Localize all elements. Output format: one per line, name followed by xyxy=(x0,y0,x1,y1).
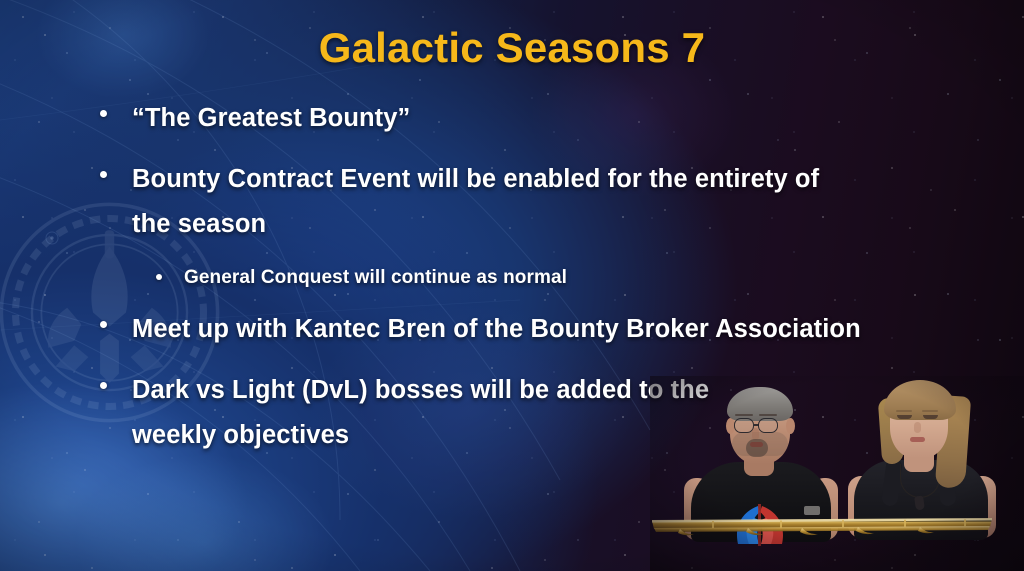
right-presenter-mouth xyxy=(910,437,925,442)
right-presenter-hair-top xyxy=(884,380,956,420)
right-presenter-eye-left xyxy=(897,415,912,419)
slide-title: Galactic Seasons 7 xyxy=(0,24,1024,72)
bullet-item-2: Bounty Contract Event will be enabled fo… xyxy=(100,157,960,247)
bullet-dot-icon xyxy=(100,171,107,178)
bullet-item-3-sub: General Conquest will continue as normal xyxy=(156,263,960,293)
presenter-left-figure xyxy=(686,386,836,536)
bullet-text: “The Greatest Bounty” xyxy=(132,96,410,141)
webcam-overlay xyxy=(650,376,1024,571)
bullet-text: Bounty Contract Event will be enabled fo… xyxy=(132,157,832,247)
right-presenter-nose xyxy=(914,422,921,433)
necklace-pendant-icon xyxy=(914,495,925,510)
bullet-dot-icon xyxy=(100,321,107,328)
bullet-item-4: Meet up with Kantec Bren of the Bounty B… xyxy=(100,307,960,352)
presentation-slide: Galactic Seasons 7 “The Greatest Bounty”… xyxy=(0,0,1024,571)
left-presenter-mouth xyxy=(750,442,763,447)
glasses-bridge-icon xyxy=(754,424,759,426)
bullet-dot-icon xyxy=(100,382,107,389)
right-presenter-eyebrow-left xyxy=(896,410,912,412)
right-presenter-eye-right xyxy=(923,415,938,419)
bullet-dot-icon xyxy=(100,110,107,117)
right-presenter-eyebrow-right xyxy=(922,410,938,412)
presenter-right-figure xyxy=(846,380,996,538)
glasses-lens-left-icon xyxy=(734,418,754,433)
bullet-item-1: “The Greatest Bounty” xyxy=(100,96,960,141)
left-presenter-ear-right xyxy=(786,418,795,434)
bullet-dot-icon xyxy=(156,274,162,280)
tshirt-sleeve-tag xyxy=(804,506,820,515)
glasses-lens-right-icon xyxy=(758,418,778,433)
golden-ornate-ledge xyxy=(652,516,992,536)
bullet-text: General Conquest will continue as normal xyxy=(184,263,567,293)
bullet-text: Meet up with Kantec Bren of the Bounty B… xyxy=(132,307,861,352)
